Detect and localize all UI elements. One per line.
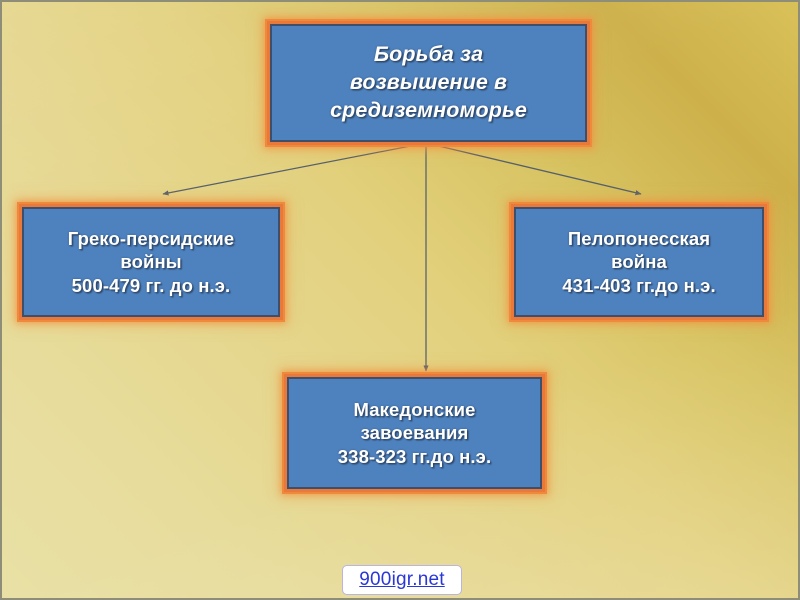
macedonian-line-2: завоевания: [361, 422, 469, 443]
diagram-node-peloponnesian-text: Пелопонесская война 431-403 гг.до н.э.: [554, 227, 723, 297]
peloponnesian-line-1: Пелопонесская: [568, 228, 710, 249]
connector-to-peloponnesian: [426, 143, 641, 194]
diagram-node-greco-persian-text: Греко-персидские войны 500-479 гг. до н.…: [60, 227, 243, 297]
macedonian-line-1: Македонские: [353, 399, 475, 420]
greco-persian-line-2: войны: [120, 251, 181, 272]
diagram-node-title[interactable]: Борьба за возвышение в средиземноморье: [270, 24, 587, 142]
greco-persian-line-1: Греко-персидские: [68, 228, 235, 249]
watermark-link-label[interactable]: 900igr.net: [359, 569, 444, 591]
peloponnesian-line-2: война: [611, 251, 667, 272]
macedonian-line-3: 338-323 гг.до н.э.: [338, 446, 491, 467]
connector-to-greco-persian: [163, 143, 426, 194]
diagram-node-greco-persian[interactable]: Греко-персидские войны 500-479 гг. до н.…: [22, 207, 280, 317]
slide-canvas: Борьба за возвышение в средиземноморье Г…: [0, 0, 800, 600]
title-line-2: возвышение в: [350, 70, 507, 94]
diagram-node-title-text: Борьба за возвышение в средиземноморье: [322, 41, 535, 125]
watermark-badge[interactable]: 900igr.net: [342, 565, 462, 595]
title-line-3: средиземноморье: [330, 98, 527, 122]
peloponnesian-line-3: 431-403 гг.до н.э.: [562, 275, 715, 296]
diagram-node-peloponnesian[interactable]: Пелопонесская война 431-403 гг.до н.э.: [514, 207, 764, 317]
title-line-1: Борьба за: [374, 42, 483, 66]
diagram-node-macedonian-text: Македонские завоевания 338-323 гг.до н.э…: [330, 398, 499, 468]
diagram-node-macedonian[interactable]: Македонские завоевания 338-323 гг.до н.э…: [287, 377, 542, 489]
greco-persian-line-3: 500-479 гг. до н.э.: [72, 275, 231, 296]
